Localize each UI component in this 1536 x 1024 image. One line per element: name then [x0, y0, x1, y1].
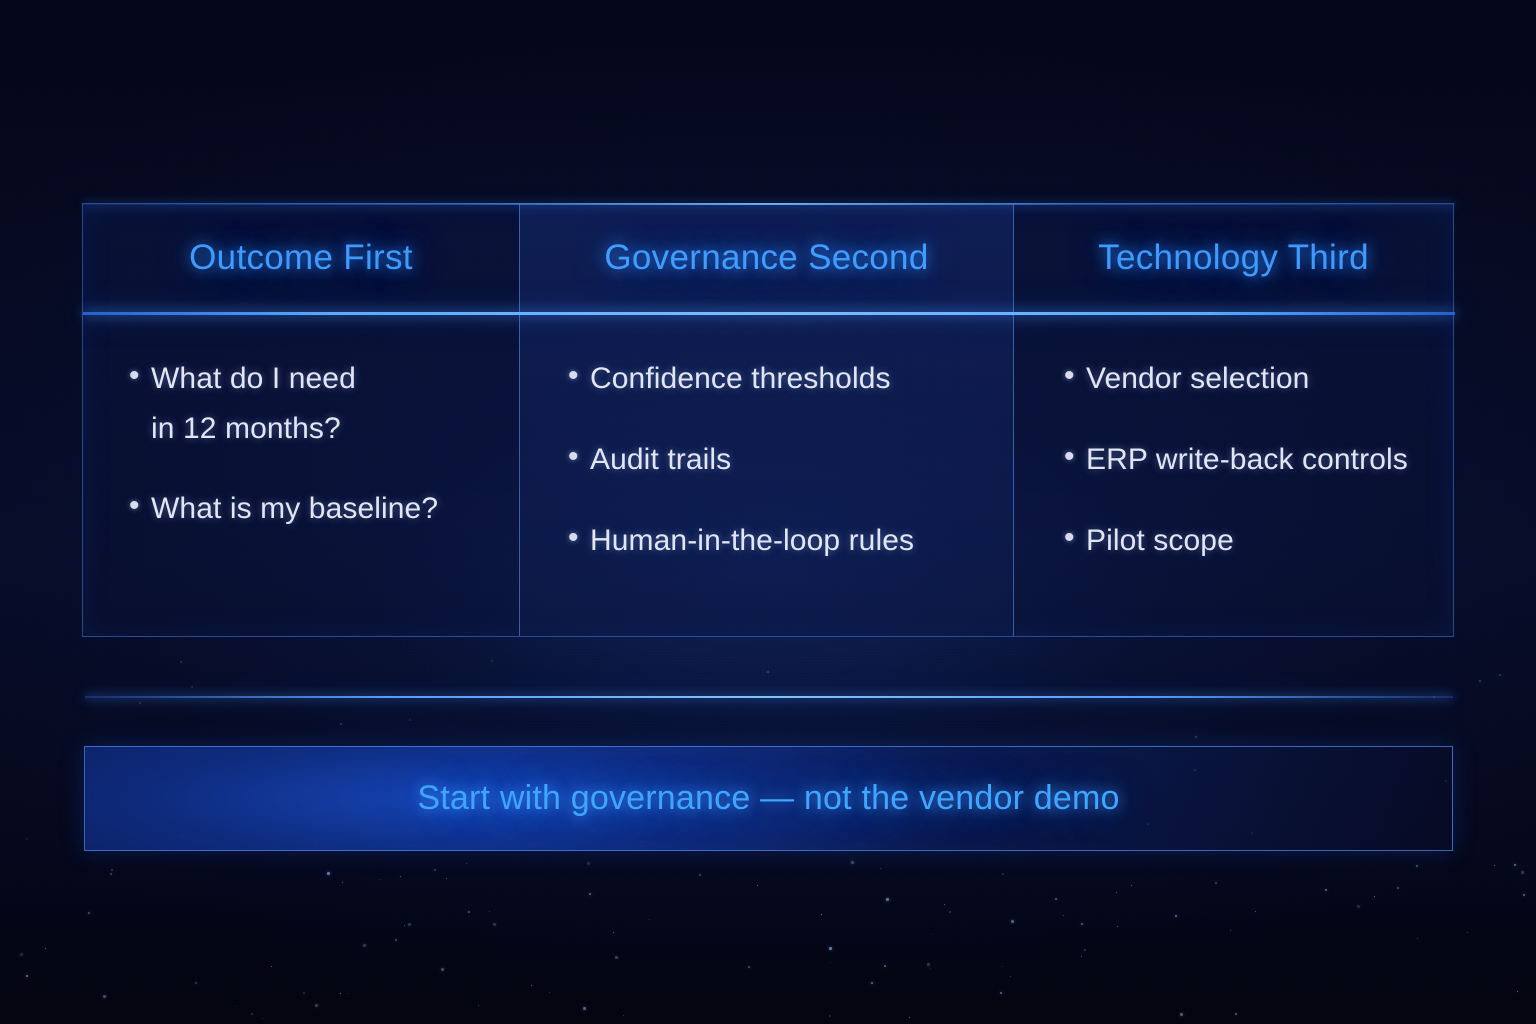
- column-body-governance-second: • Confidence thresholds • Audit trails •…: [520, 312, 1013, 636]
- bullet-icon: •: [568, 435, 590, 479]
- bullet-icon: •: [1064, 354, 1086, 398]
- list-item: • Pilot scope: [1064, 516, 1453, 566]
- bullet-icon: •: [1064, 516, 1086, 560]
- bullet-icon: •: [129, 354, 151, 398]
- column-header-outcome-first: Outcome First: [83, 204, 519, 312]
- takeaway-banner-label: Start with governance — not the vendor d…: [417, 779, 1119, 818]
- column-body-outcome-first: • What do I need in 12 months? • What is…: [83, 312, 519, 636]
- section-separator-rule: [85, 696, 1453, 698]
- bullet-icon: •: [568, 354, 590, 398]
- column-heading-label: Governance Second: [604, 238, 928, 278]
- column-technology-third: Technology Third • Vendor selection • ER…: [1014, 204, 1453, 636]
- bullet-icon: •: [1064, 435, 1086, 479]
- takeaway-banner: Start with governance — not the vendor d…: [84, 746, 1453, 851]
- column-outcome-first: Outcome First • What do I need in 12 mon…: [83, 204, 519, 636]
- list-item: • ERP write-back controls: [1064, 435, 1453, 485]
- column-governance-second: Governance Second • Confidence threshold…: [519, 204, 1014, 636]
- column-heading-label: Technology Third: [1098, 238, 1369, 278]
- list-item-label: Vendor selection: [1086, 354, 1309, 404]
- list-item-label: Pilot scope: [1086, 516, 1234, 566]
- list-item-label: What do I need in 12 months?: [151, 354, 356, 454]
- list-item-label: What is my baseline?: [151, 484, 438, 534]
- column-header-governance-second: Governance Second: [520, 204, 1013, 312]
- list-item-label: Audit trails: [590, 435, 731, 485]
- list-item-label: Confidence thresholds: [590, 354, 891, 404]
- list-item: • Vendor selection: [1064, 354, 1453, 404]
- column-body-technology-third: • Vendor selection • ERP write-back cont…: [1014, 312, 1453, 636]
- bullet-icon: •: [129, 484, 151, 528]
- list-item: • What is my baseline?: [129, 484, 501, 534]
- list-item-label: Human-in-the-loop rules: [590, 516, 914, 566]
- list-item: • What do I need in 12 months?: [129, 354, 501, 454]
- list-item-label: ERP write-back controls: [1086, 435, 1408, 485]
- list-item: • Confidence thresholds: [568, 354, 1001, 404]
- list-item: • Human-in-the-loop rules: [568, 516, 1001, 566]
- column-heading-label: Outcome First: [189, 238, 413, 278]
- three-column-table: Outcome First • What do I need in 12 mon…: [82, 203, 1454, 637]
- bullet-icon: •: [568, 516, 590, 560]
- list-item: • Audit trails: [568, 435, 1001, 485]
- slide-canvas: Outcome First • What do I need in 12 mon…: [0, 0, 1536, 1024]
- column-header-technology-third: Technology Third: [1014, 204, 1453, 312]
